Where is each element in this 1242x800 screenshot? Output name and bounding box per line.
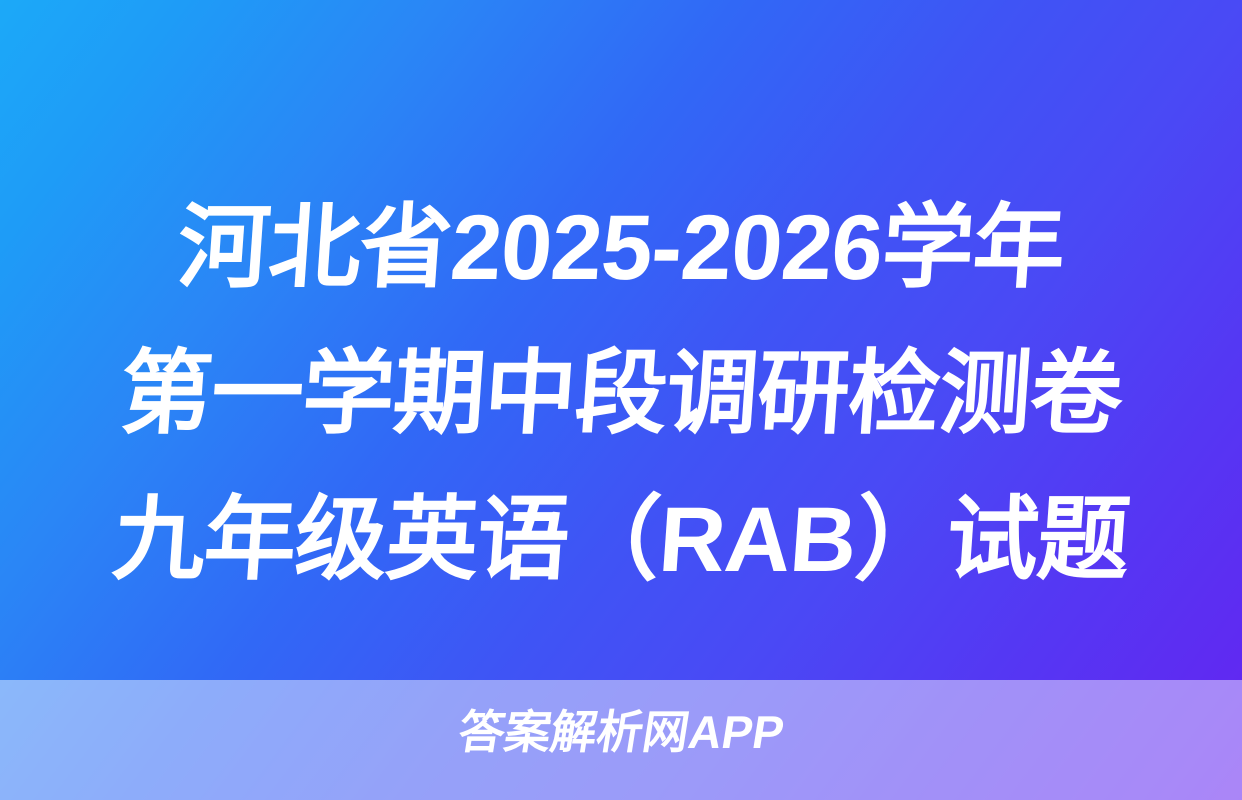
watermark-label: 答案解析网APP (455, 706, 788, 758)
watermark: 答案解析网APP (0, 706, 1242, 758)
exam-cover-poster: 河北省2025-2026学年 第一学期中段调研检测卷 九年级英语（RAB）试题 … (0, 0, 1242, 800)
